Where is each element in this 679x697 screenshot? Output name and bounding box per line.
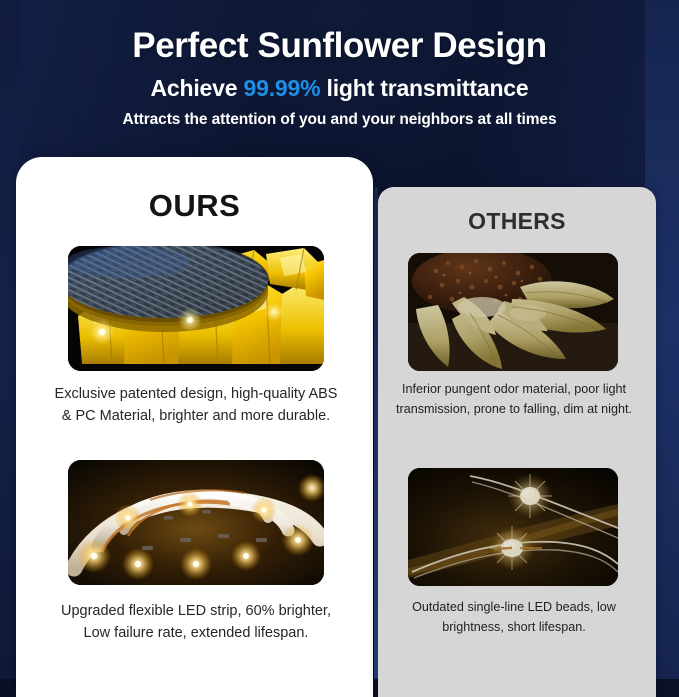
others-heading: OTHERS: [378, 208, 656, 235]
single-line-led-beads-image: [408, 468, 618, 586]
transmittance-value: 99.99%: [244, 75, 321, 101]
dull-sunflower-image: [408, 253, 618, 371]
tagline: Attracts the attention of you and your n…: [0, 111, 679, 129]
others-caption-2: Outdated single-line LED beads, low brig…: [396, 598, 632, 637]
subtitle: Achieve 99.99% light transmittance: [0, 75, 679, 102]
subtitle-prefix: Achieve: [151, 75, 244, 101]
others-caption-1: Inferior pungent odor material, poor lig…: [396, 380, 632, 419]
sunflower-solar-panel-image: [68, 246, 324, 371]
ours-heading: OURS: [16, 188, 373, 224]
led-strip-image: [68, 460, 324, 585]
panel-divider: [374, 187, 378, 679]
ours-caption-1: Exclusive patented design, high-quality …: [52, 383, 340, 427]
ours-caption-2: Upgraded flexible LED strip, 60% brighte…: [52, 600, 340, 644]
page-title: Perfect Sunflower Design: [0, 26, 679, 65]
subtitle-suffix: light transmittance: [320, 75, 528, 101]
header: Perfect Sunflower Design Achieve 99.99% …: [0, 26, 679, 129]
